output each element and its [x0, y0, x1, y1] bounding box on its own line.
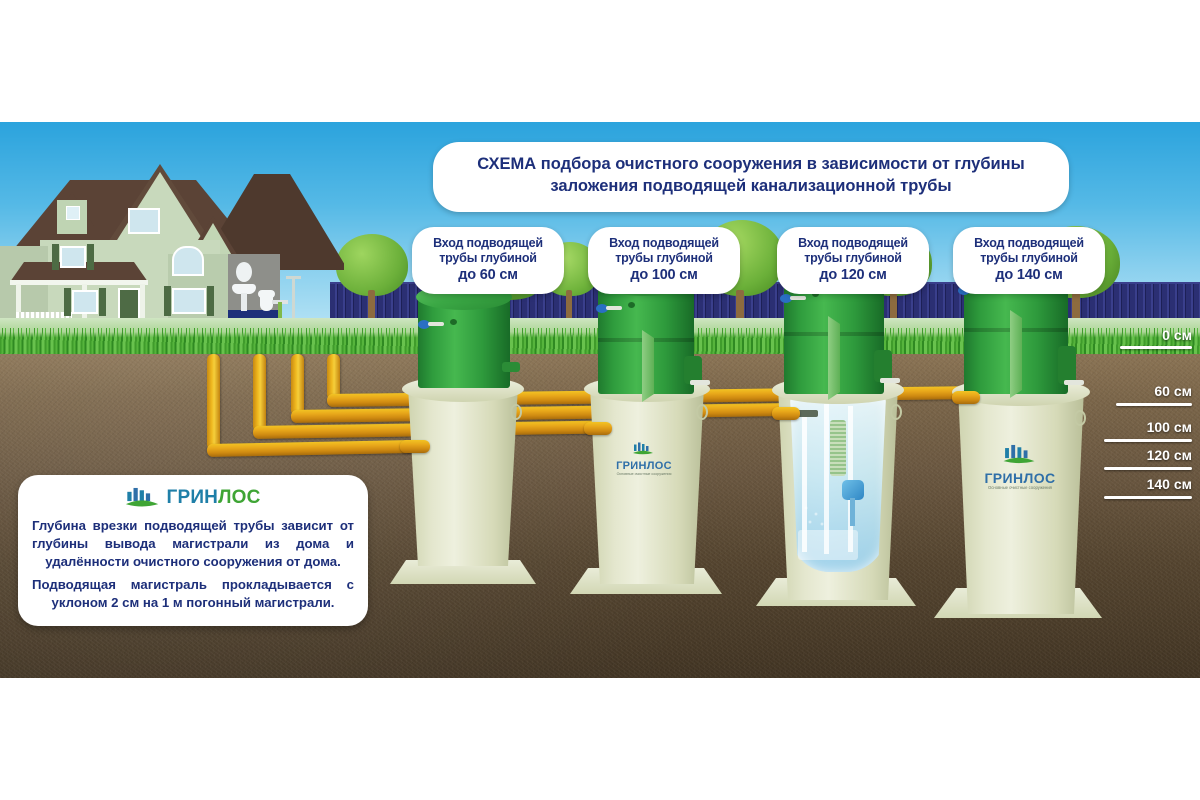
brand-prefix: ГРИН — [166, 487, 218, 508]
callout-bubble-140: Вход подводящей трубы глубиной до 140 см — [953, 227, 1105, 294]
scene: ГРИНЛОС Основные очистные сооружения — [0, 122, 1200, 678]
callout-60-line-2: трубы глубиной — [418, 251, 558, 266]
scale-rule-60 — [1116, 403, 1192, 406]
callout-60-line-3: до 60 см — [418, 267, 558, 285]
info-box: ГРИНЛОС Глубина врезки подводящей трубы … — [18, 475, 368, 626]
infographic-canvas: ГРИНЛОС Основные очистные сооружения — [0, 0, 1200, 800]
callout-120-line-3: до 120 см — [783, 267, 923, 285]
lifting-eye-icon — [890, 404, 902, 420]
pipe-vertical-60 — [207, 354, 220, 450]
pipe-inlet-140 — [952, 391, 980, 404]
lifting-eye-icon — [510, 404, 522, 420]
scale-rule-120 — [1104, 467, 1192, 470]
callout-100-line-1: Вход подводящей — [594, 236, 734, 251]
callout-140-line-1: Вход подводящей — [959, 236, 1099, 251]
scale-rule-140 — [1104, 496, 1192, 499]
scale-label-0: 0 см — [1116, 327, 1192, 343]
tank-brand-tagline: Основные очистные сооружения — [604, 472, 684, 476]
brand-wordmark: ГРИНЛОС — [166, 487, 260, 509]
scale-rule-0 — [1120, 346, 1192, 349]
pump-icon — [842, 480, 864, 500]
tank-brand-text: ГРИНЛОС — [974, 470, 1066, 486]
scale-label-100: 100 см — [1100, 419, 1192, 435]
callout-140-line-2: трубы глубиной — [959, 251, 1099, 266]
callout-120-line-1: Вход подводящей — [783, 236, 923, 251]
title-bubble: СХЕМА подбора очистного сооружения в зав… — [433, 142, 1069, 212]
pipe-inlet-120 — [772, 407, 800, 420]
tank-logo-mark — [1002, 444, 1036, 466]
lifting-eye-icon — [696, 404, 708, 420]
lifting-eye-icon — [1074, 410, 1086, 426]
info-paragraph-2: Подводящая магистраль прокладывается с у… — [32, 576, 354, 612]
pipe-inlet-100 — [584, 422, 612, 435]
callout-bubble-100: Вход подводящей трубы глубиной до 100 см — [588, 227, 740, 294]
callout-140-line-3: до 140 см — [959, 267, 1099, 285]
scale-label-120: 120 см — [1100, 447, 1192, 463]
callout-bubble-120: Вход подводящей трубы глубиной до 120 см — [777, 227, 929, 294]
tank-brand-tagline: Основные очистные сооружения — [970, 485, 1070, 490]
brand-logo: ГРИНЛОС — [32, 487, 354, 509]
callout-bubble-60: Вход подводящей трубы глубиной до 60 см — [412, 227, 564, 294]
callout-100-line-3: до 100 см — [594, 267, 734, 285]
pipe-vertical-100 — [253, 354, 266, 432]
tank-brand-text: ГРИНЛОС — [608, 460, 680, 472]
pipe-inlet-60 — [400, 440, 430, 453]
greenlos-logo-icon — [125, 487, 159, 509]
info-paragraph-1: Глубина врезки подводящей трубы зависит … — [32, 517, 354, 572]
tank-logo-mark — [632, 442, 654, 456]
pipe-vertical-120 — [291, 354, 304, 416]
callout-60-line-1: Вход подводящей — [418, 236, 558, 251]
scale-rule-100 — [1104, 439, 1192, 442]
scale-label-60: 60 см — [1112, 383, 1192, 399]
callout-120-line-2: трубы глубиной — [783, 251, 923, 266]
scale-label-140: 140 см — [1100, 476, 1192, 492]
title-line-2: заложения подводящей канализационной тру… — [457, 176, 1045, 198]
title-line-1: СХЕМА подбора очистного сооружения в зав… — [457, 154, 1045, 176]
brand-suffix: ЛОС — [218, 487, 260, 508]
callout-100-line-2: трубы глубиной — [594, 251, 734, 266]
